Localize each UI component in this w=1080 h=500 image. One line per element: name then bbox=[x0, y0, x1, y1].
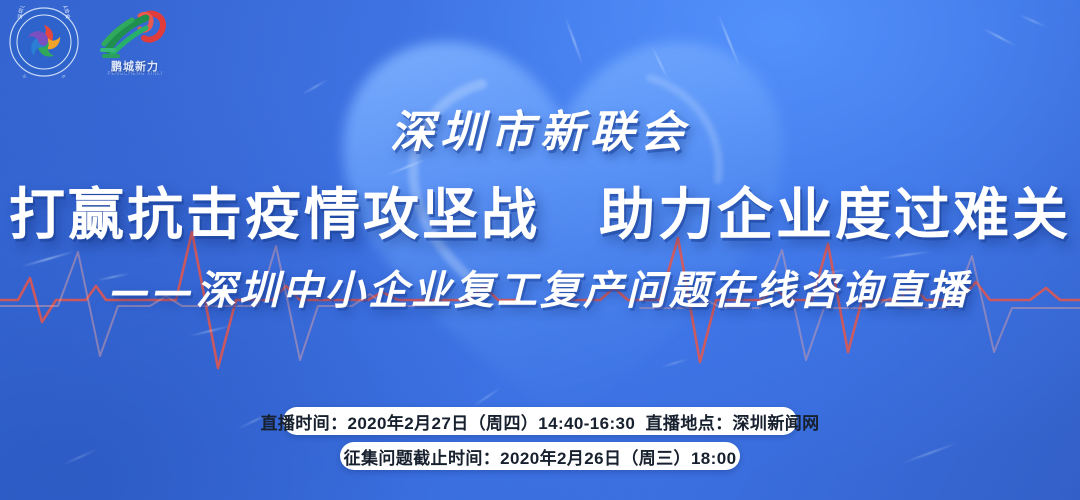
subtitle: ——深圳中小企业复工复产问题在线咨询直播 bbox=[0, 258, 1080, 316]
pengcheng-xinli-logo-icon: 鹏城新力 PENGCHENG XINLI bbox=[96, 6, 174, 80]
logo-group: 深圳市新的社会阶层人士联合会 SHENZHEN NEW SOCIAL STRAT… bbox=[8, 6, 174, 80]
logo-mark-sublabel: PENGCHENG XINLI bbox=[96, 71, 174, 77]
main-headline: 打赢抗击疫情攻坚战 助力企业度过难关 bbox=[0, 170, 1080, 251]
shenzhen-association-emblem-icon: 深圳市新的社会阶层人士联合会 SHENZHEN NEW SOCIAL STRAT… bbox=[8, 6, 80, 78]
question-deadline-info-bar: 征集问题截止时间：2020年2月26日（周三）18:00 bbox=[340, 442, 740, 470]
live-stream-poster: 深圳市新的社会阶层人士联合会 SHENZHEN NEW SOCIAL STRAT… bbox=[0, 0, 1080, 500]
live-time-info-bar: 直播时间：2020年2月27日（周四）14:40-16:30 直播地点：深圳新闻… bbox=[283, 407, 797, 435]
organization-title: 深圳市新联会 bbox=[0, 96, 1080, 160]
